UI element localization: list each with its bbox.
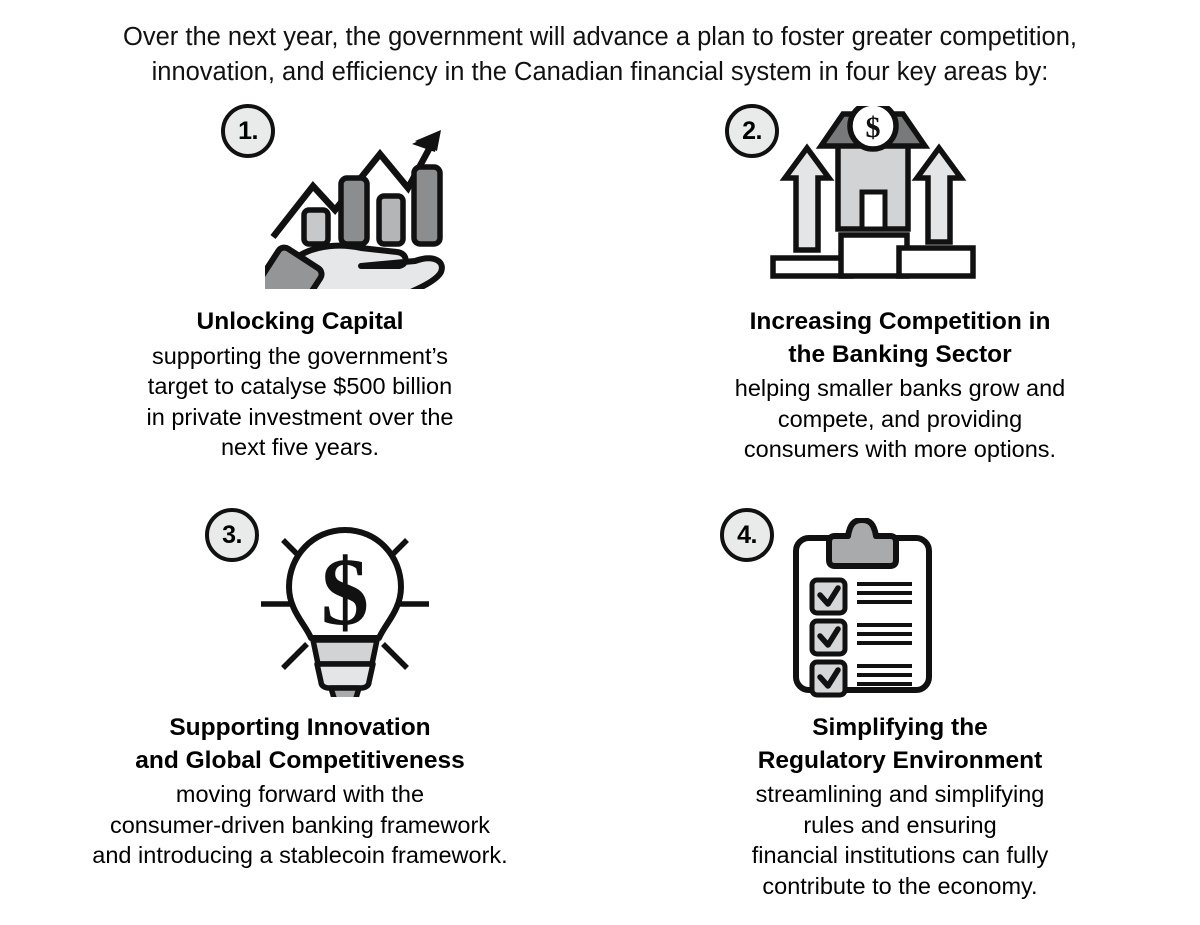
caption-1: Unlocking Capital supporting the governm… [0, 306, 600, 463]
icon-row-4: 4. [600, 500, 1200, 696]
title-line: Supporting Innovation [18, 712, 582, 745]
card-body-1: supporting the government’s target to ca… [18, 341, 582, 463]
body-line: and introducing a stablecoin framework. [18, 840, 582, 871]
card-title-3: Supporting Innovation and Global Competi… [18, 712, 582, 777]
body-line: target to catalyse $500 billion [18, 371, 582, 402]
body-line: helping smaller banks grow and [618, 373, 1182, 404]
body-line: consumer-driven banking framework [18, 810, 582, 841]
icon-row-3: 3. $ [0, 500, 600, 696]
card-title-2: Increasing Competition in the Banking Se… [618, 306, 1182, 371]
key-area-card-3: 3. $ [0, 500, 600, 904]
lightbulb-dollar-idea-icon: $ [255, 512, 435, 702]
title-line: Increasing Competition in [618, 306, 1182, 339]
number-badge-3: 3. [205, 508, 259, 562]
card-body-3: moving forward with the consumer-driven … [18, 779, 582, 871]
card-title-4: Simplifying the Regulatory Environment [618, 712, 1182, 777]
intro-line-2: innovation, and efficiency in the Canadi… [95, 55, 1105, 90]
key-areas-grid: 1. [0, 96, 1200, 904]
card-body-2: helping smaller banks grow and compete, … [618, 373, 1182, 465]
caption-2: Increasing Competition in the Banking Se… [600, 306, 1200, 465]
body-line: rules and ensuring [618, 810, 1182, 841]
intro-line-1: Over the next year, the government will … [95, 20, 1105, 55]
body-line: moving forward with the [18, 779, 582, 810]
card-title-1: Unlocking Capital [18, 306, 582, 339]
body-line: financial institutions can fully [618, 840, 1182, 871]
body-line: compete, and providing [618, 404, 1182, 435]
body-line: in private investment over the [18, 402, 582, 433]
key-area-card-4: 4. [600, 500, 1200, 904]
number-badge-4: 4. [720, 508, 774, 562]
clipboard-checklist-icon [790, 518, 935, 703]
body-line: streamlining and simplifying [618, 779, 1182, 810]
body-line: supporting the government’s [18, 341, 582, 372]
body-line: contribute to the economy. [618, 871, 1182, 902]
intro-paragraph: Over the next year, the government will … [95, 0, 1105, 89]
svg-text:$: $ [866, 111, 881, 144]
title-line: Regulatory Environment [618, 745, 1182, 778]
caption-3: Supporting Innovation and Global Competi… [0, 712, 600, 871]
svg-text:$: $ [321, 538, 369, 645]
body-line: next five years. [18, 432, 582, 463]
title-line: Simplifying the [618, 712, 1182, 745]
card-body-4: streamlining and simplifying rules and e… [618, 779, 1182, 901]
hand-holding-growth-chart-icon [265, 104, 445, 294]
title-line: the Banking Sector [618, 339, 1182, 372]
caption-4: Simplifying the Regulatory Environment s… [600, 712, 1200, 901]
title-line: Unlocking Capital [18, 306, 582, 339]
infographic-page: Over the next year, the government will … [0, 0, 1200, 925]
icon-row-2: 2. $ [600, 96, 1200, 292]
body-line: consumers with more options. [618, 434, 1182, 465]
title-line: and Global Competitiveness [18, 745, 582, 778]
key-area-card-2: 2. $ [600, 96, 1200, 500]
bank-building-growth-icon: $ [765, 106, 980, 286]
icon-row-1: 1. [0, 96, 600, 292]
key-area-card-1: 1. [0, 96, 600, 500]
